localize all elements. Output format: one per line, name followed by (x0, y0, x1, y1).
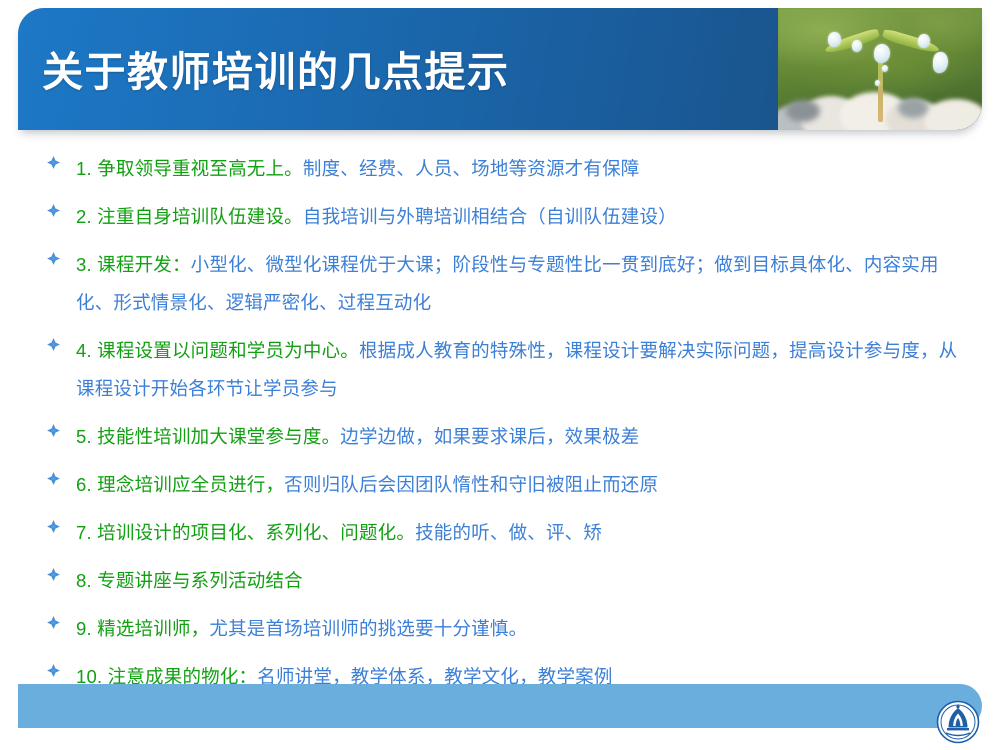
diamond-bullet-icon (46, 562, 76, 586)
diamond-bullet-icon (46, 466, 76, 490)
list-item-text-blue: 技能的听、做、评、矫 (415, 522, 602, 543)
list-item-text-green: 4. 课程设置以问题和学员为中心。 (76, 340, 359, 361)
diamond-bullet-icon (46, 246, 76, 270)
diamond-bullet-icon (46, 658, 76, 682)
diamond-bullet-icon (46, 198, 76, 222)
list-item-text-green: 7. 培训设计的项目化、系列化、问题化。 (76, 522, 415, 543)
pebble-icon (786, 100, 820, 122)
diamond-bullet-icon (46, 610, 76, 634)
list-item: 6. 理念培训应全员进行，否则归队后会因团队惰性和守旧被阻止而还原 (46, 466, 966, 504)
list-item-text-blue: 尤其是首场培训师的挑选要十分谨慎。 (209, 618, 527, 639)
list-item-text-blue: 制度、经费、人员、场地等资源才有保障 (303, 158, 640, 179)
list-item-text-blue: 否则归队后会因团队惰性和守旧被阻止而还原 (284, 474, 658, 495)
list-item-text: 1. 争取领导重视至高无上。制度、经费、人员、场地等资源才有保障 (76, 150, 966, 188)
list-item-text-green: 6. 理念培训应全员进行， (76, 474, 284, 495)
diamond-bullet-icon (46, 150, 76, 174)
list-item-text: 4. 课程设置以问题和学员为中心。根据成人教育的特殊性，课程设计要解决实际问题，… (76, 332, 966, 408)
list-item-text-blue: 自我培训与外聘培训相结合（自训队伍建设） (303, 206, 677, 227)
list-item: 4. 课程设置以问题和学员为中心。根据成人教育的特殊性，课程设计要解决实际问题，… (46, 332, 966, 408)
list-item-text-green: 8. 专题讲座与系列活动结合 (76, 570, 303, 591)
seedling-photo (778, 8, 982, 130)
bullet-list: 1. 争取领导重视至高无上。制度、经费、人员、场地等资源才有保障 2. 注重自身… (46, 150, 966, 706)
list-item-text: 9. 精选培训师，尤其是首场培训师的挑选要十分谨慎。 (76, 610, 966, 648)
institution-seal-logo (936, 700, 980, 744)
list-item: 1. 争取领导重视至高无上。制度、经费、人员、场地等资源才有保障 (46, 150, 966, 188)
list-item-text-green: 1. 争取领导重视至高无上。 (76, 158, 303, 179)
list-item-text-green: 2. 注重自身培训队伍建设。 (76, 206, 303, 227)
list-item: 8. 专题讲座与系列活动结合 (46, 562, 966, 600)
list-item-text: 6. 理念培训应全员进行，否则归队后会因团队惰性和守旧被阻止而还原 (76, 466, 966, 504)
diamond-bullet-icon (46, 514, 76, 538)
list-item-text: 7. 培训设计的项目化、系列化、问题化。技能的听、做、评、矫 (76, 514, 966, 552)
list-item-text: 5. 技能性培训加大课堂参与度。边学边做，如果要求课后，效果极差 (76, 418, 966, 456)
list-item: 3. 课程开发：小型化、微型化课程优于大课；阶段性与专题性比一贯到底好；做到目标… (46, 246, 966, 322)
list-item-text: 2. 注重自身培训队伍建设。自我培训与外聘培训相结合（自训队伍建设） (76, 198, 966, 236)
list-item-text-blue: 小型化、微型化课程优于大课；阶段性与专题性比一贯到底好；做到目标具体化、内容实用… (76, 254, 939, 313)
list-item-text-blue: 边学边做，如果要求课后，效果极差 (340, 426, 639, 447)
pebble-icon (898, 98, 928, 118)
page-title: 关于教师培训的几点提示 (42, 38, 510, 98)
diamond-bullet-icon (46, 332, 76, 356)
slide-header-banner: 关于教师培训的几点提示 (18, 8, 982, 130)
list-item: 7. 培训设计的项目化、系列化、问题化。技能的听、做、评、矫 (46, 514, 966, 552)
list-item-text: 8. 专题讲座与系列活动结合 (76, 562, 966, 600)
list-item: 2. 注重自身培训队伍建设。自我培训与外聘培训相结合（自训队伍建设） (46, 198, 966, 236)
list-item: 5. 技能性培训加大课堂参与度。边学边做，如果要求课后，效果极差 (46, 418, 966, 456)
list-item-text-green: 3. 课程开发： (76, 254, 191, 275)
list-item: 9. 精选培训师，尤其是首场培训师的挑选要十分谨慎。 (46, 610, 966, 648)
diamond-bullet-icon (46, 418, 76, 442)
list-item-text: 3. 课程开发：小型化、微型化课程优于大课；阶段性与专题性比一贯到底好；做到目标… (76, 246, 966, 322)
footer-bar (18, 684, 982, 728)
list-item-text-green: 5. 技能性培训加大课堂参与度。 (76, 426, 340, 447)
list-item-text-green: 9. 精选培训师， (76, 618, 209, 639)
